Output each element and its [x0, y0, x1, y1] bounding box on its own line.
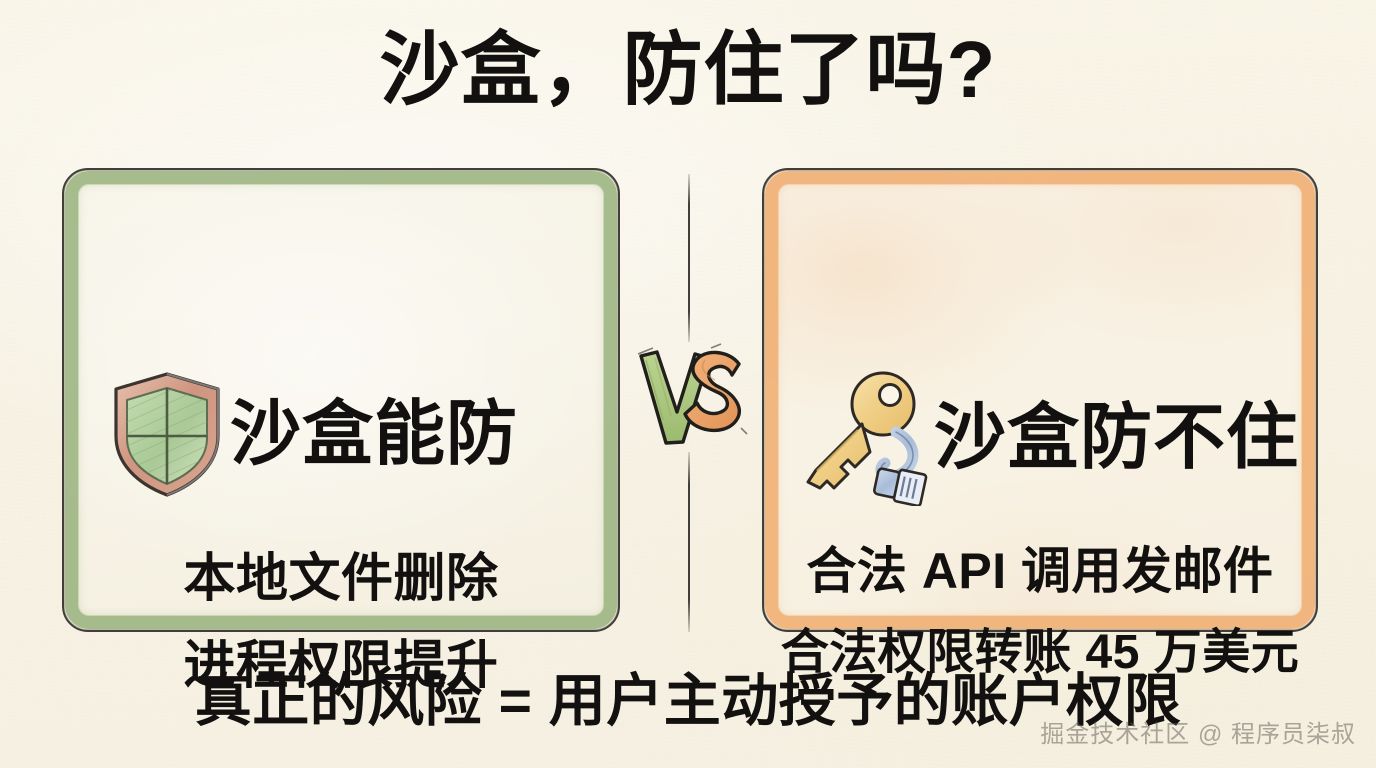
card-left-line-1: 本地文件删除	[62, 553, 620, 605]
shield-icon	[104, 364, 230, 505]
card-right-heading-row: 沙盒防不住	[786, 364, 1299, 511]
divider-line-bottom	[688, 452, 690, 632]
card-left-heading: 沙盒能防	[230, 399, 518, 470]
divider-line-top	[688, 174, 690, 342]
poster-canvas: 沙盒，防住了吗?	[0, 0, 1376, 768]
key-plug-icon	[786, 364, 934, 511]
vs-badge	[633, 342, 751, 454]
card-sandbox-cannot-block: 沙盒防不住 合法 API 调用发邮件 合法权限转账 45 万美元	[762, 168, 1318, 632]
page-title: 沙盒，防住了吗?	[0, 28, 1376, 112]
card-left-heading-row: 沙盒能防	[104, 364, 518, 505]
card-right-line-1: 合法 API 调用发邮件	[762, 546, 1318, 596]
watermark: 掘金技术社区 @ 程序员柒叔	[1040, 714, 1356, 749]
card-right-heading: 沙盒防不住	[934, 402, 1299, 474]
card-sandbox-can-block: 沙盒能防 本地文件删除 进程权限提升	[62, 168, 620, 632]
